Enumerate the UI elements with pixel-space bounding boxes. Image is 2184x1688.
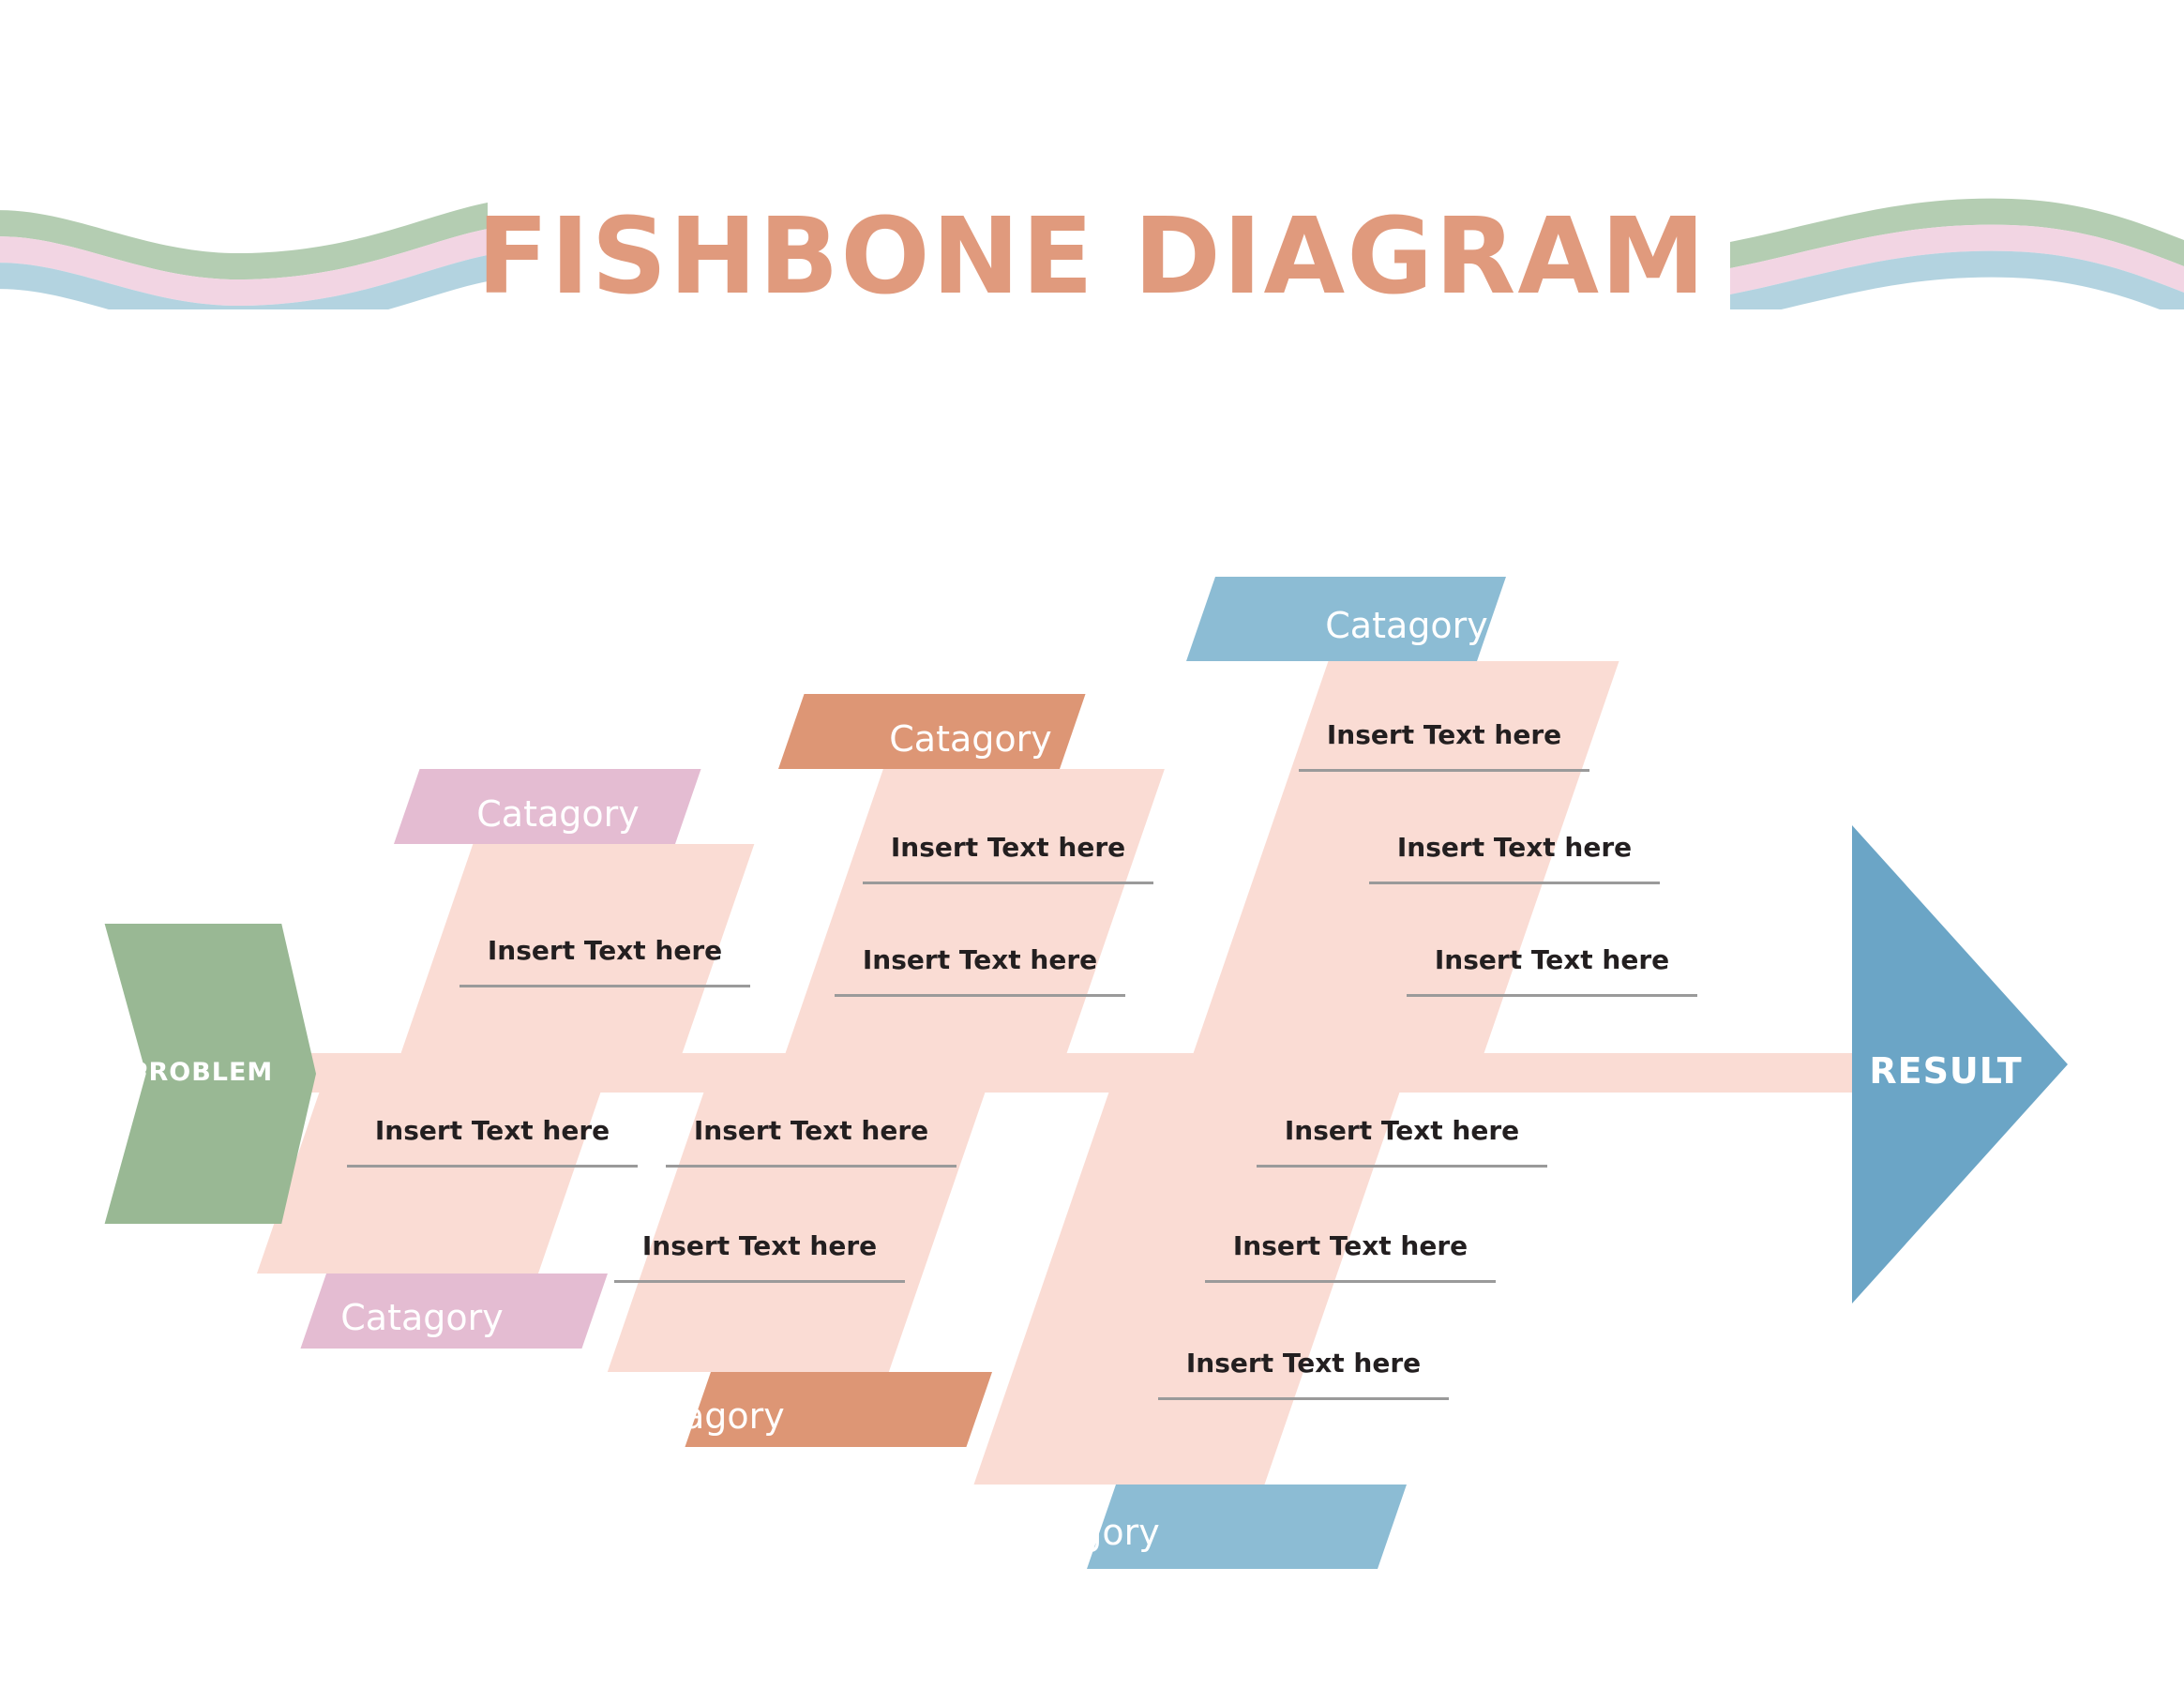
branch-3-bottom-entry-3-text: Insert Text here [1158,1350,1449,1377]
branch-1-bottom-entry-1: Insert Text here [347,1118,638,1168]
branch-2-bottom-entry-2-rule [614,1280,905,1283]
branch-3-bottom-category-label: Catagory [938,1512,1219,1553]
branch-2-top-entry-1-rule [863,882,1153,884]
branch-2-bottom-entry-1-text: Insert Text here [666,1118,956,1144]
branch-3-top-entry-2-rule [1369,882,1660,884]
branch-2-top-category-label: Catagory [830,718,1111,760]
branch-3-top-entry-1-rule [1299,769,1589,772]
branch-3-top-entry-3-text: Insert Text here [1407,947,1697,973]
branch-1-bottom-category-label: Catagory [281,1297,563,1338]
branch-2-top-entry-2-text: Insert Text here [835,947,1125,973]
branch-3-top-entry-1-text: Insert Text here [1299,722,1589,748]
branch-1-top-entry-1: Insert Text here [459,938,750,987]
branch-3-top-entry-1: Insert Text here [1299,722,1589,772]
branch-3-bottom-entry-1-text: Insert Text here [1257,1118,1547,1144]
branch-3-top-entry-3-rule [1407,994,1697,997]
branch-1-top-category-label: Catagory [417,793,699,835]
branch-3-bottom-entry-1-rule [1257,1165,1547,1168]
branch-3-bottom-entry-1: Insert Text here [1257,1118,1547,1168]
branch-2-top-entry-2-rule [835,994,1125,997]
branch-2-top-entry-1-text: Insert Text here [863,835,1153,861]
result-label: RESULT [1852,1050,2040,1092]
branch-2-top-body [778,769,1165,1074]
branch-3-top-entry-2-text: Insert Text here [1369,835,1660,861]
branch-2-bottom-entry-1-rule [666,1165,956,1168]
branch-2-bottom-entry-2-text: Insert Text here [614,1233,905,1259]
branch-3-bottom-entry-2-rule [1205,1280,1496,1283]
branch-1-top-entry-1-rule [459,985,750,987]
branch-1-top-entry-1-text: Insert Text here [459,938,750,964]
branch-3-top-category-label: Catagory [1266,605,1547,646]
branch-2-bottom-entry-1: Insert Text here [666,1118,956,1168]
problem-label: PROBLEM [86,1058,316,1087]
branch-3-bottom-entry-3: Insert Text here [1158,1350,1449,1400]
branch-1-bottom-entry-1-rule [347,1165,638,1168]
branch-2-top-entry-1: Insert Text here [863,835,1153,884]
fishbone-diagram: Catagory Insert Text here Catagory Inser… [0,0,2184,1688]
branch-3-top-entry-3: Insert Text here [1407,947,1697,997]
branch-1-bottom-entry-1-text: Insert Text here [347,1118,638,1144]
branch-3-bottom-entry-3-rule [1158,1397,1449,1400]
branch-3-bottom-entry-2: Insert Text here [1205,1233,1496,1283]
branch-2-top-entry-2: Insert Text here [835,947,1125,997]
branch-2-bottom-entry-2: Insert Text here [614,1233,905,1283]
branch-1-bottom-body [257,1072,608,1274]
branch-3-top-entry-2: Insert Text here [1369,835,1660,884]
branch-2-bottom-category-label: Catagory [563,1395,844,1437]
branch-3-bottom-entry-2-text: Insert Text here [1205,1233,1496,1259]
